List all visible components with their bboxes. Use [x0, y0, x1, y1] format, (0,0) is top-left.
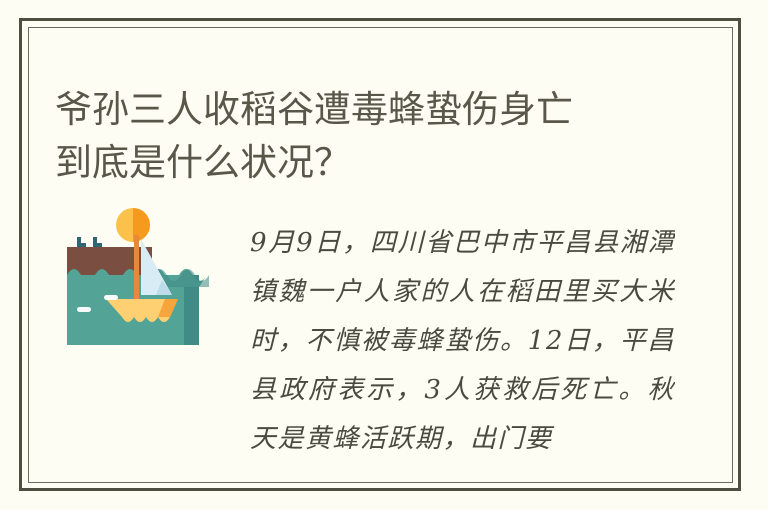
article-title: 爷孙三人收稻谷遭毒蜂蛰伤身亡 到底是什么状况？: [55, 83, 695, 190]
article-content: 爷孙三人收稻谷遭毒蜂蛰伤身亡 到底是什么状况？: [29, 28, 732, 482]
article-body-text: 9月9日，四川省巴中市平昌县湘潭镇魏一户人家的人在稻田里买大米时，不慎被毒蜂蛰伤…: [250, 219, 675, 482]
article-page: 爷孙三人收稻谷遭毒蜂蛰伤身亡 到底是什么状况？: [0, 0, 768, 510]
seaside-sailboat-icon: [57, 195, 209, 350]
article-thumbnail[interactable]: [57, 195, 209, 350]
article-body-row: 9月9日，四川省巴中市平昌县湘潭镇魏一户人家的人在稻田里买大米时，不慎被毒蜂蛰伤…: [55, 195, 700, 475]
